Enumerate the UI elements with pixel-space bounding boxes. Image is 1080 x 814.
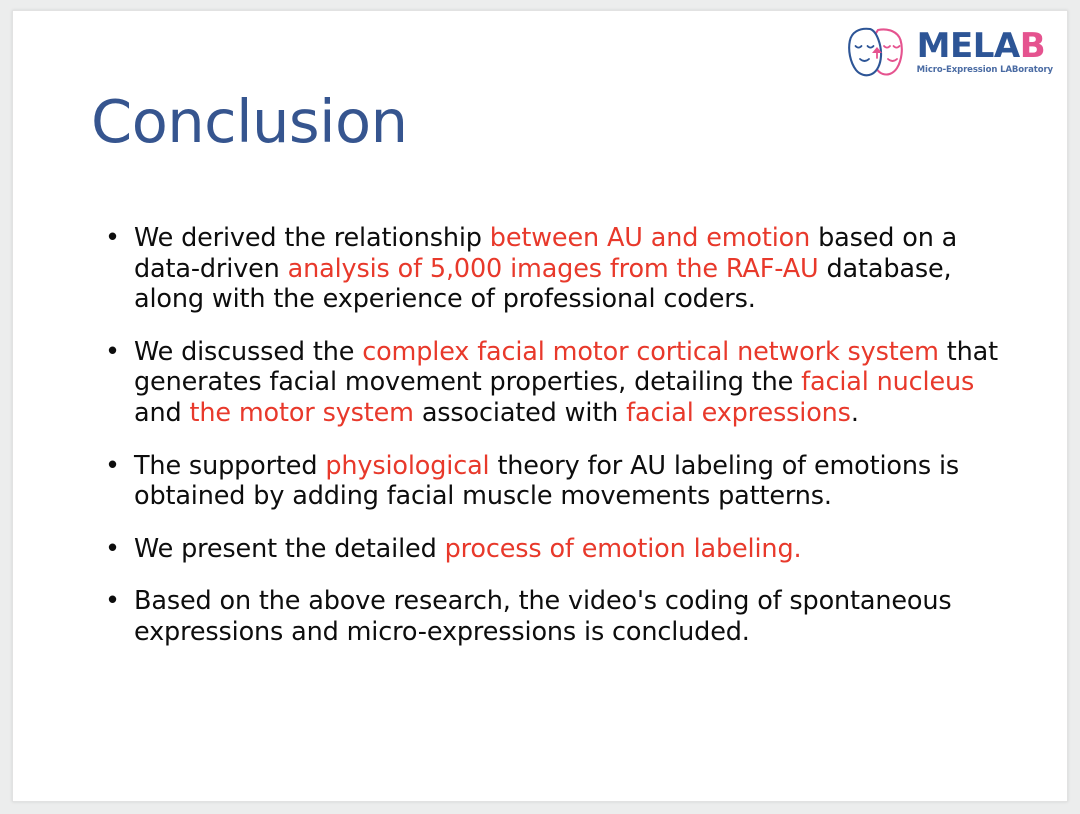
bullet-marker-icon: •: [105, 337, 120, 368]
highlighted-text-run: the motor system: [189, 398, 413, 428]
highlighted-text-run: facial nucleus: [801, 367, 974, 397]
logo-wordmark-prefix: MELA: [917, 26, 1020, 66]
text-run: .: [851, 398, 859, 428]
list-item: •We derived the relationship between AU …: [101, 223, 1009, 315]
highlighted-text-run: analysis of 5,000 images from the RAF-AU: [288, 254, 819, 284]
text-run: The supported: [134, 451, 325, 481]
highlighted-text-run: between AU and emotion: [490, 223, 810, 253]
logo-wordmark-suffix: B: [1020, 26, 1045, 66]
bullet-list: •We derived the relationship between AU …: [101, 223, 1009, 648]
list-item-text: We present the detailed process of emoti…: [134, 534, 1009, 565]
list-item-text: We derived the relationship between AU a…: [134, 223, 1009, 315]
list-item: •Based on the above research, the video'…: [101, 586, 1009, 647]
text-run: Based on the above research, the video's…: [134, 586, 952, 647]
logo-wordmark: MELAB: [917, 29, 1053, 63]
list-item-text: We discussed the complex facial motor co…: [134, 337, 1009, 429]
list-item: •The supported physiological theory for …: [101, 451, 1009, 512]
highlighted-text-run: physiological: [325, 451, 489, 481]
bullet-marker-icon: •: [105, 451, 120, 482]
list-item: •We present the detailed process of emot…: [101, 534, 1009, 565]
page-title: Conclusion: [91, 90, 408, 155]
bullet-marker-icon: •: [105, 534, 120, 565]
bullet-marker-icon: •: [105, 586, 120, 617]
highlighted-text-run: process of emotion labeling.: [445, 534, 802, 564]
text-run: We present the detailed: [134, 534, 445, 564]
text-run: and: [134, 398, 189, 428]
two-overlapping-face-masks-icon: [848, 26, 910, 78]
bullet-marker-icon: •: [105, 223, 120, 254]
highlighted-text-run: complex facial motor cortical network sy…: [362, 337, 939, 367]
list-item-text: The supported physiological theory for A…: [134, 451, 1009, 512]
logo-wordmark-group: MELAB Micro-Expression LABoratory: [917, 29, 1053, 75]
list-item-text: Based on the above research, the video's…: [134, 586, 1009, 647]
melab-logo: MELAB Micro-Expression LABoratory: [848, 23, 1053, 81]
highlighted-text-run: facial expressions: [626, 398, 851, 428]
list-item: •We discussed the complex facial motor c…: [101, 337, 1009, 429]
text-run: We derived the relationship: [134, 223, 490, 253]
text-run: We discussed the: [134, 337, 362, 367]
slide-canvas: MELAB Micro-Expression LABoratory Conclu…: [12, 10, 1068, 802]
text-run: associated with: [414, 398, 626, 428]
logo-tagline: Micro-Expression LABoratory: [917, 66, 1053, 75]
